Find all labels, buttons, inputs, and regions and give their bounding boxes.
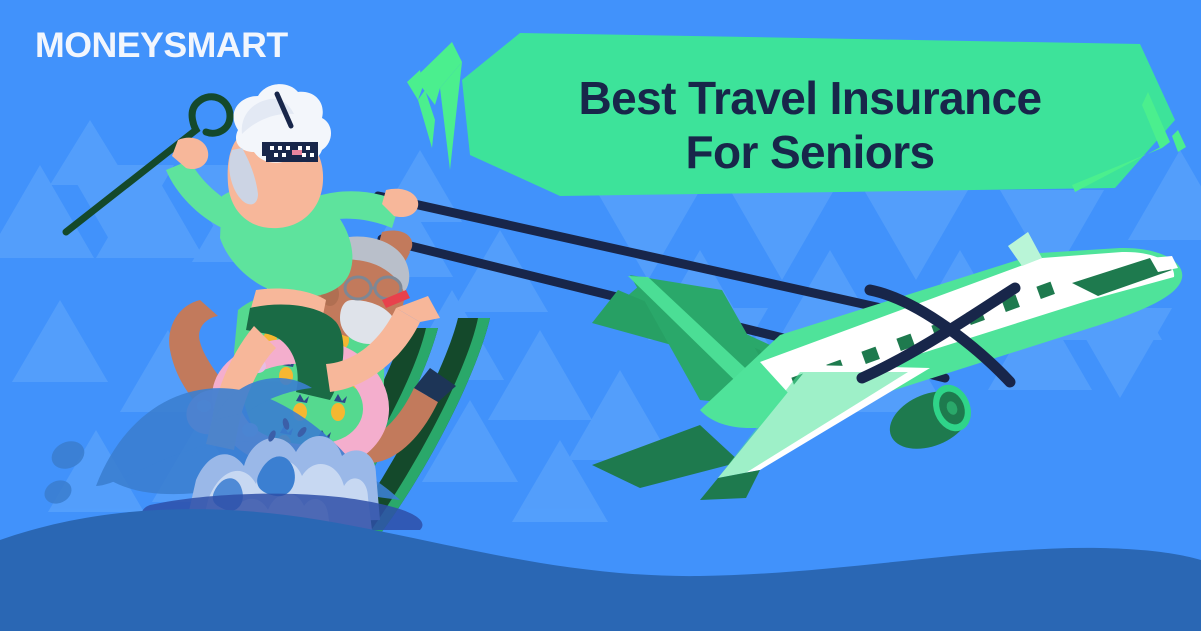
ocean-wave xyxy=(0,509,1201,631)
page-title: Best Travel Insurance For Seniors xyxy=(500,72,1120,180)
banner-canvas: MONEYSMART Best Travel Insurance For Sen… xyxy=(0,0,1201,631)
moneysmart-logo[interactable]: MONEYSMART xyxy=(35,28,288,63)
